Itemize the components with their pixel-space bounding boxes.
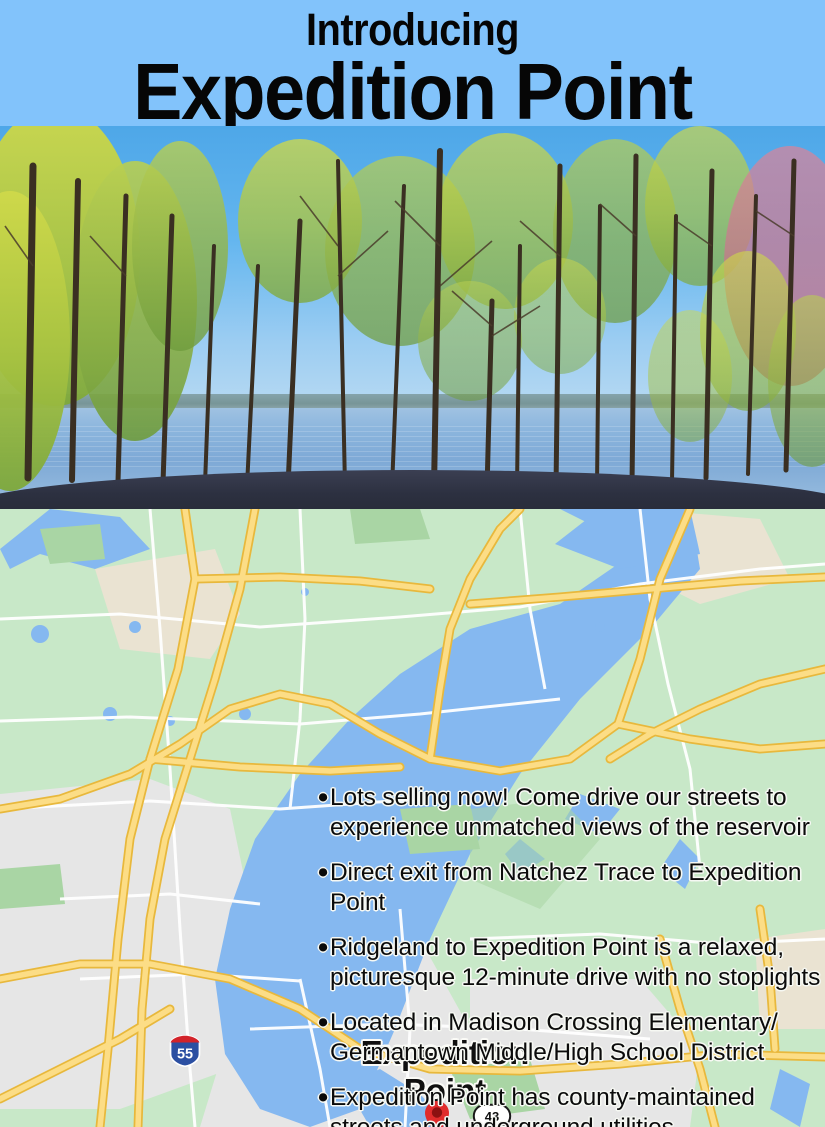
bullet-marker: • bbox=[318, 1083, 330, 1113]
svg-text:55: 55 bbox=[177, 1047, 193, 1063]
bullet-text: Direct exit from Natchez Trace to Expedi… bbox=[330, 858, 823, 918]
bullet-text: Lots selling now! Come drive our streets… bbox=[330, 783, 823, 843]
bullet-marker: • bbox=[318, 858, 330, 888]
feature-bullet-list: • Lots selling now! Come drive our stree… bbox=[318, 783, 823, 1127]
listing-flyer: Introducing Expedition Point bbox=[0, 0, 825, 1127]
property-photo bbox=[0, 126, 825, 509]
list-item: • Located in Madison Crossing Elementary… bbox=[318, 1008, 823, 1068]
tree-trunks bbox=[0, 126, 825, 509]
bullet-marker: • bbox=[318, 783, 330, 813]
list-item: • Ridgeland to Expedition Point is a rel… bbox=[318, 933, 823, 993]
header-title: Expedition Point bbox=[33, 50, 792, 126]
bullet-text: Expedition Point has county-maintained s… bbox=[330, 1083, 823, 1127]
bullet-marker: • bbox=[318, 1008, 330, 1038]
list-item: • Expedition Point has county-maintained… bbox=[318, 1083, 823, 1127]
list-item: • Lots selling now! Come drive our stree… bbox=[318, 783, 823, 843]
interstate-55-shield-north: 55 bbox=[168, 1034, 202, 1068]
bullet-text: Ridgeland to Expedition Point is a relax… bbox=[330, 933, 823, 993]
bullet-marker: • bbox=[318, 933, 330, 963]
list-item: • Direct exit from Natchez Trace to Expe… bbox=[318, 858, 823, 918]
flyer-header: Introducing Expedition Point bbox=[0, 0, 825, 126]
bullet-text: Located in Madison Crossing Elementary/ … bbox=[330, 1008, 823, 1068]
